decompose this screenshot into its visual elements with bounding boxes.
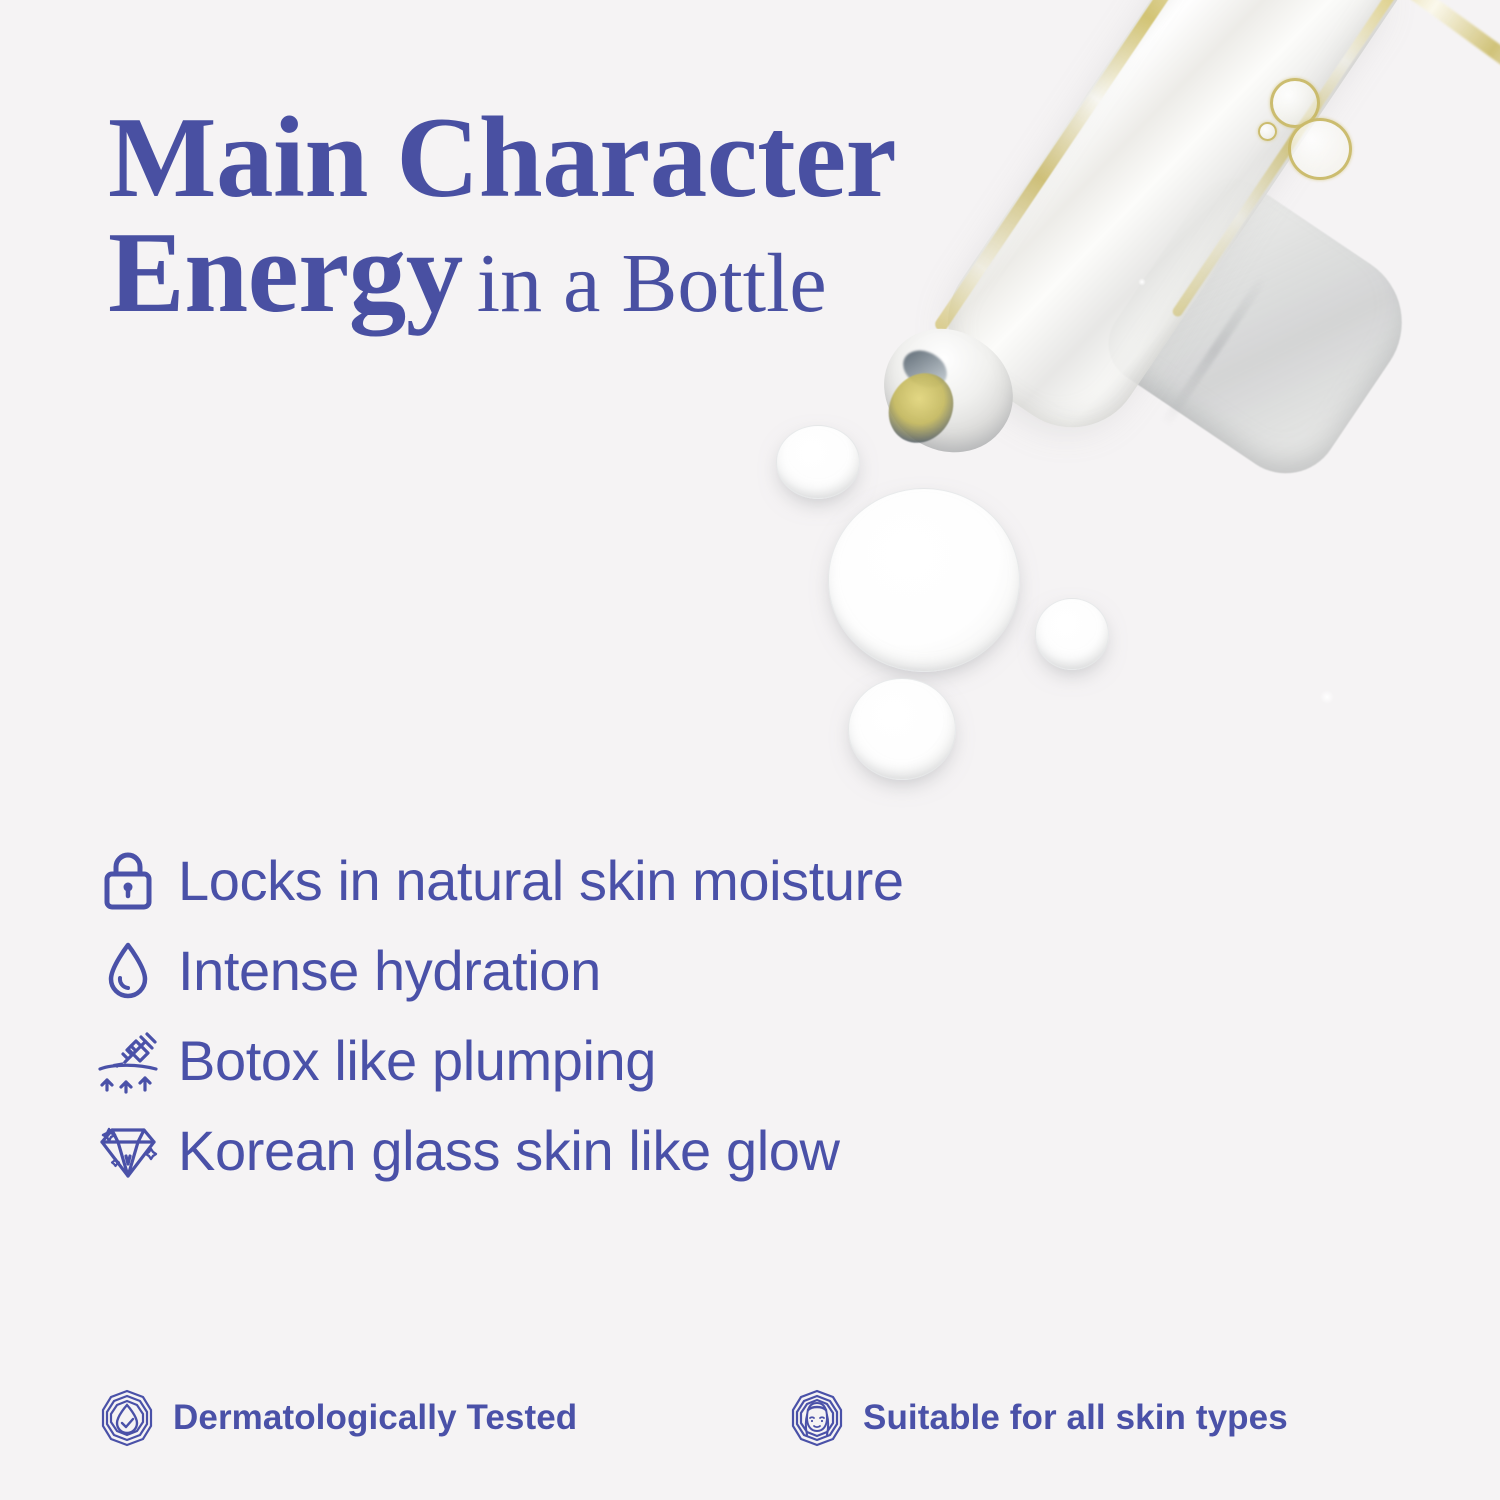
air-bubble-icon: [1258, 122, 1277, 141]
serum-droplet: [1035, 598, 1109, 670]
sparkle-icon: [1320, 690, 1334, 704]
benefit-list: Locks in natural skin moisture Intense h…: [92, 836, 1272, 1196]
headline-subphrase: in a Bottle: [477, 237, 827, 330]
product-banner: Main Character Energyin a Bottle Locks i…: [0, 0, 1500, 1500]
list-item-label: Botox like plumping: [164, 1033, 656, 1089]
list-item-label: Korean glass skin like glow: [164, 1123, 840, 1179]
headline-line-1: Main Character: [108, 103, 1168, 213]
badge-label: Dermatologically Tested: [156, 1398, 577, 1438]
serum-droplet: [828, 488, 1020, 672]
syringe-plumping-icon: [92, 1028, 164, 1094]
list-item-label: Intense hydration: [164, 943, 601, 999]
badge-label: Suitable for all skin types: [846, 1398, 1288, 1438]
badge-dermatologically-tested: Dermatologically Tested: [98, 1388, 788, 1448]
padlock-icon: [92, 851, 164, 911]
droplet-check-seal-icon: [98, 1388, 156, 1448]
badge-suitable-all-skin-types: Suitable for all skin types: [788, 1388, 1288, 1448]
air-bubble-icon: [1288, 118, 1352, 180]
serum-droplet: [776, 425, 860, 499]
water-drop-icon: [92, 940, 164, 1002]
list-item: Korean glass skin like glow: [92, 1106, 1272, 1196]
serum-droplet: [848, 678, 956, 780]
list-item-label: Locks in natural skin moisture: [164, 853, 904, 909]
headline-emphasis: Energy: [108, 209, 463, 336]
face-seal-icon: [788, 1388, 846, 1448]
list-item: Botox like plumping: [92, 1016, 1272, 1106]
diamond-icon: [92, 1120, 164, 1182]
headline-line-2: Energyin a Bottle: [108, 218, 1168, 328]
page-title: Main Character Energyin a Bottle: [108, 103, 1168, 328]
list-item: Locks in natural skin moisture: [92, 836, 1272, 926]
list-item: Intense hydration: [92, 926, 1272, 1016]
trust-badges: Dermatologically Tested Suitable for all: [98, 1388, 1418, 1448]
